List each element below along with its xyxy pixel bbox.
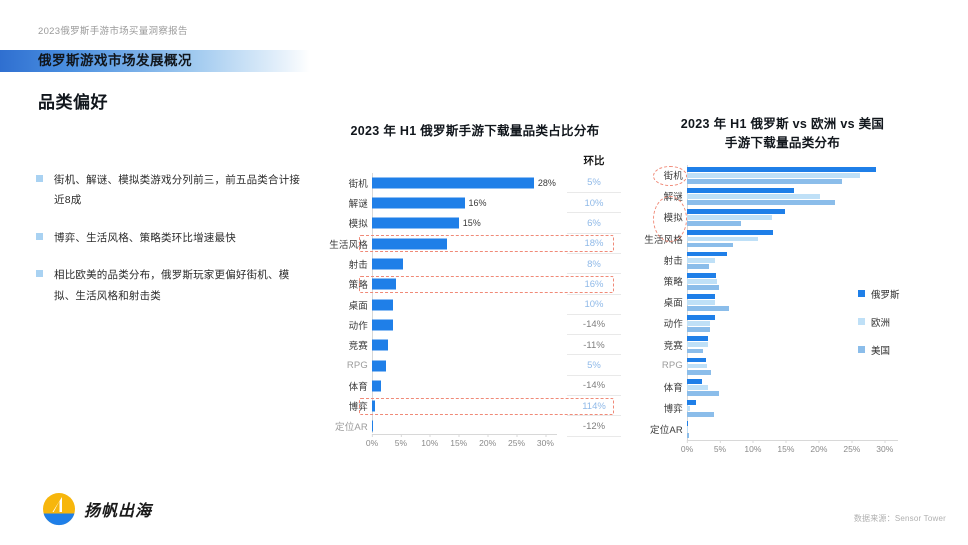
bar (687, 370, 711, 375)
bar (687, 221, 741, 226)
x-axis-tick-label: 20% (479, 438, 496, 448)
table-row: 博弈 (630, 398, 935, 419)
bar (372, 340, 388, 351)
bar (687, 349, 703, 354)
category-label: 生活风格 (630, 228, 683, 249)
list-item: 街机、解谜、模拟类游戏分列前三，前五品类合计接近8成 (36, 170, 306, 211)
bar-group (687, 398, 898, 419)
bar (687, 179, 842, 184)
list-item: 相比欧美的品类分布，俄罗斯玩家更偏好街机、模拟、生活风格和射击类 (36, 265, 306, 306)
table-row: 体育-14% (325, 376, 625, 396)
chart-title-line-2: 手游下载量品类分布 (630, 134, 935, 153)
category-label: 生活风格 (325, 234, 368, 254)
growth-value: 18% (567, 234, 621, 254)
category-label: 博弈 (630, 398, 683, 419)
table-row: 定位AR (630, 419, 935, 440)
bar-track: 15% (372, 213, 557, 233)
table-row: 模拟 (630, 207, 935, 228)
category-label: 街机 (325, 173, 368, 193)
bar-track (372, 396, 557, 416)
chart-plot-area: 街机解谜模拟生活风格射击策略桌面动作竞赛RPG体育博弈定位AR 0%5%10%1… (630, 165, 935, 465)
legend-item-俄罗斯[interactable]: 俄罗斯 (858, 287, 900, 301)
chart-region-comparison: 2023 年 H1 俄罗斯 vs 欧洲 vs 美国 手游下载量品类分布 街机解谜… (630, 115, 935, 465)
table-row: RPG5% (325, 355, 625, 375)
page-title: 品类偏好 (38, 88, 108, 113)
category-label: 竞赛 (630, 334, 683, 355)
table-row: 街机 (630, 165, 935, 186)
category-label: 策略 (630, 270, 683, 291)
sail-boat-logo-icon (42, 492, 76, 526)
bar (687, 252, 727, 257)
bar (372, 380, 381, 391)
bar (687, 300, 715, 305)
growth-value: 5% (567, 355, 621, 375)
bar (687, 243, 733, 248)
x-axis-ticks: 0%5%10%15%20%25%30% (372, 438, 557, 452)
bar (687, 321, 710, 326)
bar (687, 264, 709, 269)
table-row: 体育 (630, 376, 935, 397)
bar (687, 421, 688, 426)
bar (687, 285, 719, 290)
x-axis-line (687, 440, 898, 441)
category-label: 动作 (630, 313, 683, 334)
bar (372, 279, 396, 290)
x-axis-line (372, 434, 557, 435)
bar (372, 319, 393, 330)
x-axis-tick-label: 0% (681, 444, 693, 454)
bar (687, 358, 706, 363)
bar (687, 167, 876, 172)
bar (687, 379, 702, 384)
x-axis-tick-label: 5% (395, 438, 407, 448)
brand-logo-text: 扬帆出海 (84, 497, 152, 521)
category-label: 体育 (325, 376, 368, 396)
category-label: 解谜 (325, 193, 368, 213)
bar (687, 188, 794, 193)
growth-value: 5% (567, 173, 621, 193)
category-label: 射击 (325, 254, 368, 274)
bar-track (372, 254, 557, 274)
legend-item-美国[interactable]: 美国 (858, 343, 900, 357)
growth-value: -12% (567, 416, 621, 436)
bar (687, 258, 715, 263)
x-axis-tick-label: 15% (777, 444, 794, 454)
bar (687, 200, 835, 205)
bar (687, 427, 688, 432)
table-row: 解谜 (630, 186, 935, 207)
bar (687, 294, 715, 299)
bar (372, 198, 465, 209)
bar-track: 16% (372, 193, 557, 213)
category-label: 定位AR (630, 419, 683, 440)
table-row: 竞赛-11% (325, 335, 625, 355)
report-kicker: 2023俄罗斯手游市场买量洞察报告 (38, 23, 188, 37)
bar (687, 209, 785, 214)
growth-value: -14% (567, 376, 621, 396)
bar (687, 336, 708, 341)
bar-track (372, 376, 557, 396)
chart-title: 2023 年 H1 俄罗斯 vs 欧洲 vs 美国 手游下载量品类分布 (630, 115, 935, 153)
bullet-list: 街机、解谜、模拟类游戏分列前三，前五品类合计接近8成 博弈、生活风格、策略类环比… (36, 170, 306, 323)
category-label: 动作 (325, 315, 368, 335)
category-label: 博弈 (325, 396, 368, 416)
bar-group (687, 165, 898, 186)
bar-value-label: 15% (463, 218, 481, 228)
table-row: 街机28%5% (325, 173, 625, 193)
category-label: 桌面 (325, 295, 368, 315)
category-label: RPG (630, 355, 683, 376)
table-row: 桌面10% (325, 295, 625, 315)
legend-swatch-icon (858, 318, 865, 325)
growth-value: -14% (567, 315, 621, 335)
bar (687, 173, 860, 178)
bar-track (372, 274, 557, 294)
bar (687, 327, 710, 332)
bar (687, 385, 708, 390)
category-label: RPG (325, 355, 368, 375)
legend-item-label: 美国 (871, 343, 890, 357)
growth-value: 10% (567, 295, 621, 315)
growth-column-header: 环比 (567, 153, 621, 168)
x-axis-tick-label: 10% (744, 444, 761, 454)
table-row: 模拟15%6% (325, 213, 625, 233)
bar (372, 177, 534, 188)
legend-item-label: 俄罗斯 (871, 287, 900, 301)
bar (372, 401, 375, 412)
source-note: 数据来源：Sensor Tower (854, 513, 946, 524)
chart-title: 2023 年 H1 俄罗斯手游下载量品类占比分布 (325, 122, 625, 141)
list-item: 博弈、生活风格、策略类环比增速最快 (36, 228, 306, 248)
legend-swatch-icon (858, 290, 865, 297)
bar (372, 259, 403, 270)
legend-item-欧洲[interactable]: 欧洲 (858, 315, 900, 329)
bar-track (372, 234, 557, 254)
bar (372, 360, 386, 371)
growth-value: 16% (567, 274, 621, 294)
chart-legend: 俄罗斯欧洲美国 (858, 287, 900, 371)
bar (687, 315, 715, 320)
category-label: 模拟 (325, 213, 368, 233)
bar-group (687, 376, 898, 397)
square-bullet-icon (36, 270, 43, 277)
bar (687, 391, 719, 396)
x-axis-tick-label: 30% (876, 444, 893, 454)
chart-downloads-share: 2023 年 H1 俄罗斯手游下载量品类占比分布 环比 街机28%5%解谜16%… (325, 122, 625, 462)
bar-track (372, 335, 557, 355)
bar-rows: 街机28%5%解谜16%10%模拟15%6%生活风格18%射击8%策略16%桌面… (325, 173, 625, 437)
bar-value-label: 28% (538, 178, 556, 188)
bar-track: 28% (372, 173, 557, 193)
table-row: 解谜16%10% (325, 193, 625, 213)
bar-track (372, 355, 557, 375)
table-row: 动作-14% (325, 315, 625, 335)
square-bullet-icon (36, 233, 43, 240)
category-label: 策略 (325, 274, 368, 294)
bar (687, 406, 690, 411)
bar (687, 364, 707, 369)
category-label: 模拟 (630, 207, 683, 228)
bar (687, 412, 714, 417)
bar-group (687, 186, 898, 207)
category-label: 竞赛 (325, 335, 368, 355)
growth-value: 114% (567, 396, 621, 416)
bar (372, 421, 373, 432)
square-bullet-icon (36, 175, 43, 182)
x-axis-tick-label: 10% (421, 438, 438, 448)
bar (687, 194, 820, 199)
brand-logo: 扬帆出海 (42, 492, 152, 526)
legend-item-label: 欧洲 (871, 315, 890, 329)
x-axis-tick-label: 20% (810, 444, 827, 454)
bar (372, 218, 459, 229)
bar (372, 299, 393, 310)
bar (687, 342, 708, 347)
table-row: 生活风格18% (325, 234, 625, 254)
x-axis-tick-label: 0% (366, 438, 378, 448)
bar-value-label: 16% (469, 198, 487, 208)
list-item-label: 博弈、生活风格、策略类环比增速最快 (54, 228, 236, 248)
bar-track (372, 295, 557, 315)
row-divider (567, 436, 621, 437)
growth-value: 6% (567, 213, 621, 233)
x-axis-tick-label: 15% (450, 438, 467, 448)
bar (687, 306, 729, 311)
chart-title-line-1: 2023 年 H1 俄罗斯 vs 欧洲 vs 美国 (630, 115, 935, 134)
table-row: 生活风格 (630, 228, 935, 249)
table-row: 博弈114% (325, 396, 625, 416)
bar (687, 215, 772, 220)
growth-value: 8% (567, 254, 621, 274)
list-item-label: 街机、解谜、模拟类游戏分列前三，前五品类合计接近8成 (54, 170, 306, 211)
bar (687, 237, 758, 242)
bar (372, 238, 447, 249)
bar (687, 273, 716, 278)
chart-plot-area: 环比 街机28%5%解谜16%10%模拟15%6%生活风格18%射击8%策略16… (325, 155, 625, 441)
category-label: 桌面 (630, 292, 683, 313)
growth-value: -11% (567, 335, 621, 355)
section-title: 俄罗斯游戏市场发展概况 (38, 50, 192, 72)
list-item-label: 相比欧美的品类分布，俄罗斯玩家更偏好街机、模拟、生活风格和射击类 (54, 265, 306, 306)
table-row: 射击 (630, 249, 935, 270)
x-axis-tick-label: 25% (843, 444, 860, 454)
bar-group (687, 419, 898, 440)
bar-group (687, 249, 898, 270)
x-axis-tick-label: 5% (714, 444, 726, 454)
category-label: 射击 (630, 249, 683, 270)
table-row: 射击8% (325, 254, 625, 274)
category-label: 街机 (630, 165, 683, 186)
category-label: 解谜 (630, 186, 683, 207)
bar-group (687, 228, 898, 249)
growth-value: 10% (567, 193, 621, 213)
category-label: 体育 (630, 376, 683, 397)
x-axis-tick-label: 30% (537, 438, 554, 448)
category-label: 定位AR (325, 416, 368, 436)
bar (687, 279, 717, 284)
bar (687, 433, 689, 438)
bar (687, 400, 696, 405)
bar (687, 230, 773, 235)
table-row: 策略16% (325, 274, 625, 294)
x-axis-tick-label: 25% (508, 438, 525, 448)
legend-swatch-icon (858, 346, 865, 353)
bar-track (372, 315, 557, 335)
bar-group (687, 207, 898, 228)
x-axis-ticks: 0%5%10%15%20%25%30% (687, 444, 898, 458)
